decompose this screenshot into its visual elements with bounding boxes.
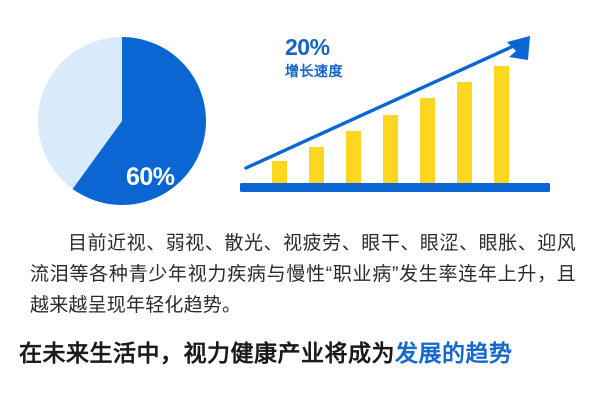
chart-baseline: [240, 183, 550, 192]
bar-item: [494, 66, 509, 183]
bar-item: [309, 147, 324, 183]
bar-chart: [228, 20, 568, 215]
headline: 在未来生活中，视力健康产业将成为发展的趋势: [19, 338, 589, 368]
charts-row: 60%: [0, 0, 600, 215]
pie-chart-svg: [38, 37, 206, 205]
growth-annotation: 20% 增长速度: [285, 36, 343, 78]
bar-item: [420, 98, 435, 183]
pie-chart: 60%: [38, 37, 206, 205]
bar-series: [272, 66, 509, 183]
pie-value-label: 60%: [126, 165, 175, 190]
bar-item: [383, 115, 398, 183]
infographic-slide: 60%: [0, 0, 600, 400]
headline-lead: 在未来生活中，视力健康产业将成为: [19, 340, 395, 366]
bar-chart-svg: [228, 20, 568, 215]
headline-accent: 发展的趋势: [395, 340, 513, 366]
bar-item: [272, 161, 287, 183]
bar-item: [346, 131, 361, 183]
body-paragraph: 目前近视、弱视、散光、视疲劳、眼干、眼涩、眼胀、迎风流泪等各种青少年视力疾病与慢…: [30, 228, 576, 321]
growth-caption: 增长速度: [285, 64, 343, 78]
bar-item: [457, 82, 472, 183]
growth-value: 20%: [285, 36, 343, 59]
